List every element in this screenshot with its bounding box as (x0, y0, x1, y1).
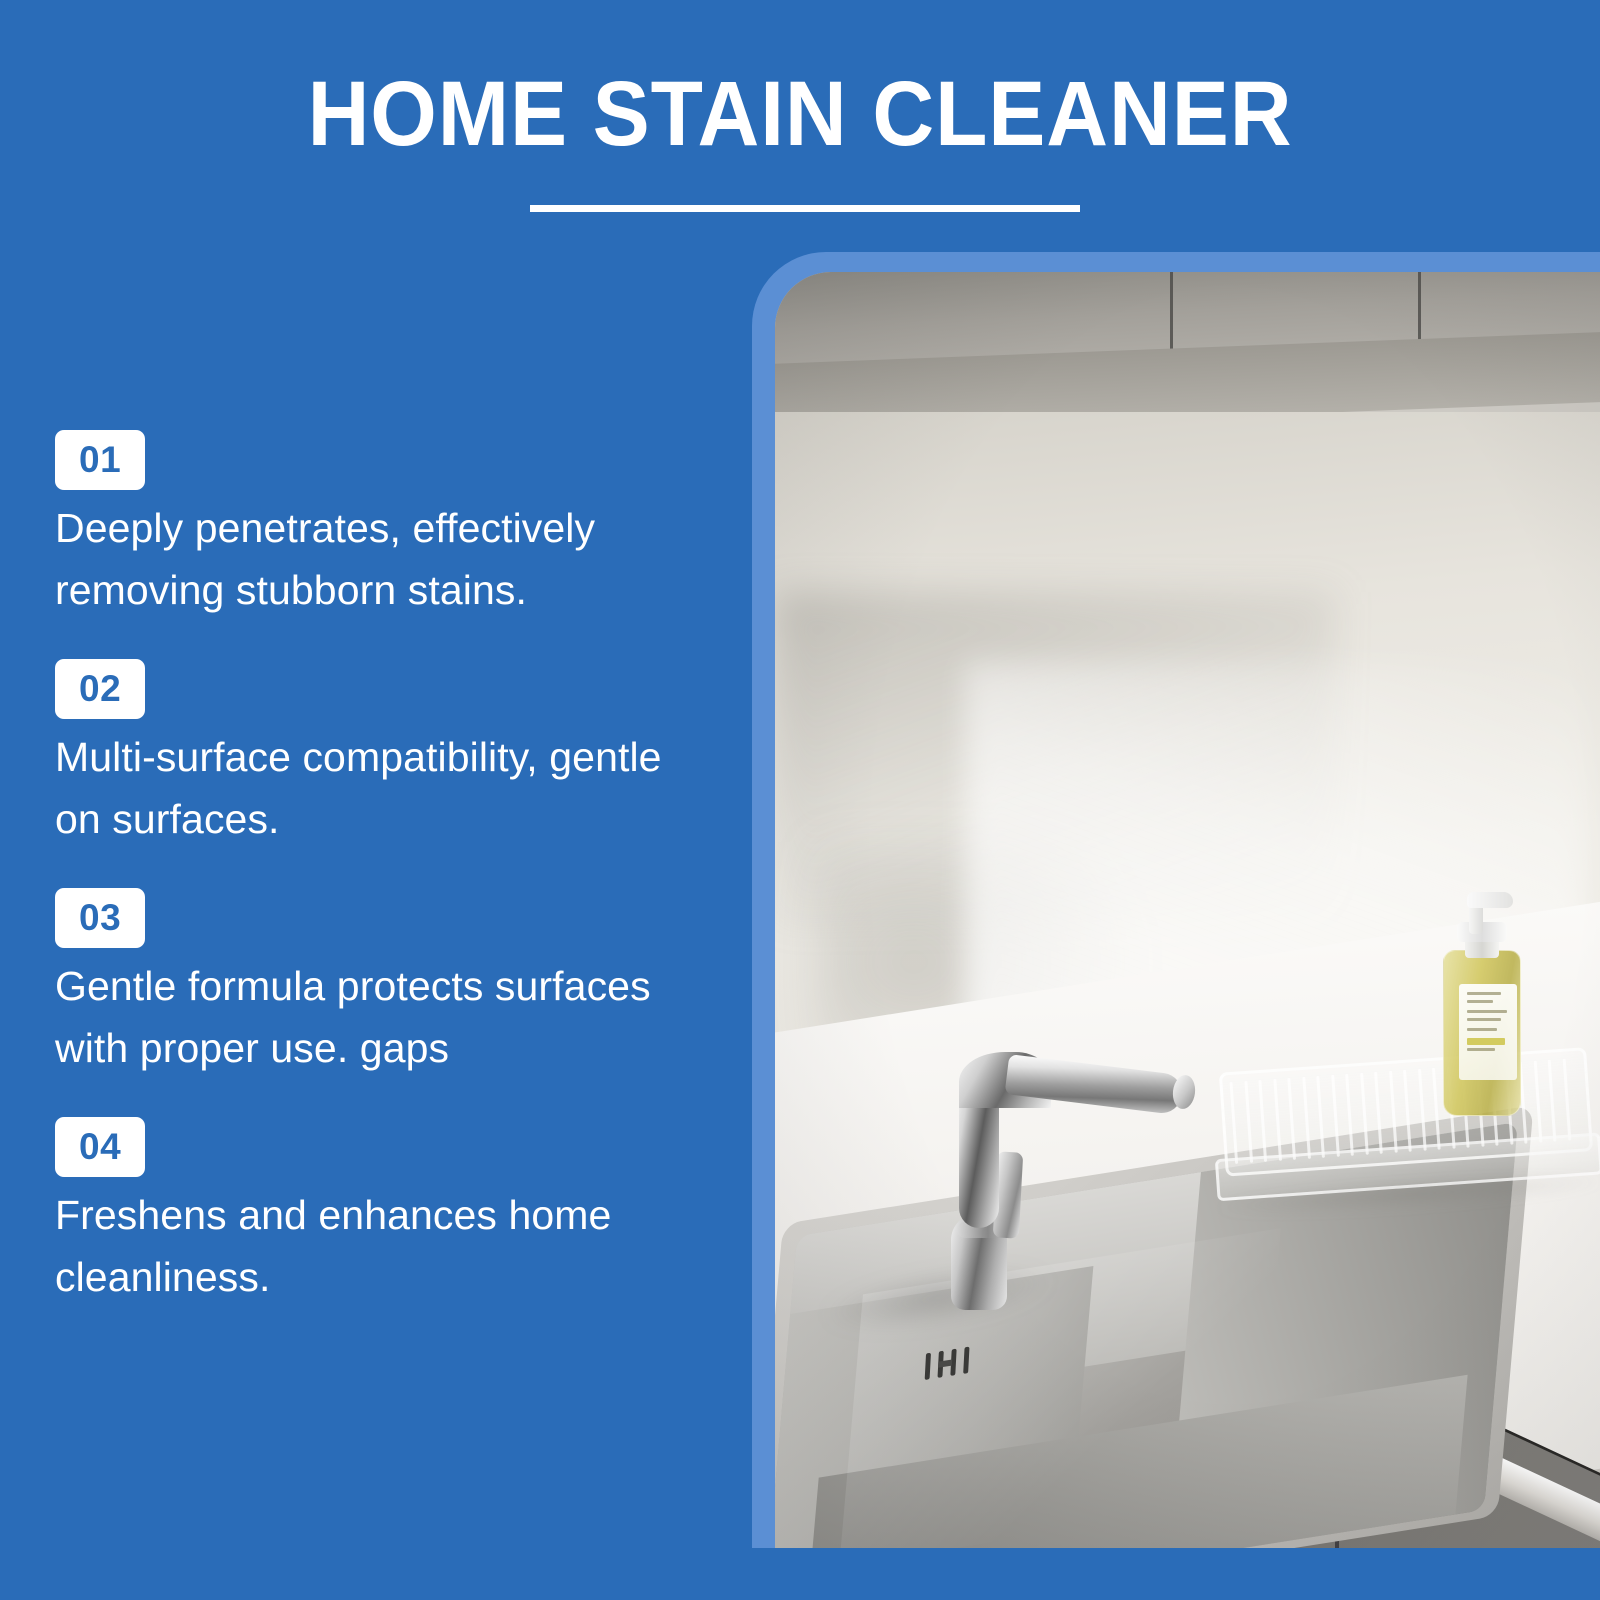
feature-number-badge: 04 (55, 1117, 145, 1177)
soap-pump-head (1467, 892, 1513, 908)
soap-dispenser (1427, 876, 1537, 1116)
feature-number-badge: 02 (55, 659, 145, 719)
list-item: 02 Multi-surface compatibility, gentle o… (55, 659, 695, 850)
feature-number-badge: 03 (55, 888, 145, 948)
kitchen-scene (775, 272, 1600, 1548)
chrome-faucet (943, 1032, 1203, 1312)
feature-text: Freshens and enhances home cleanliness. (55, 1185, 675, 1308)
feature-list: 01 Deeply penetrates, effectively removi… (55, 430, 695, 1308)
feature-text: Deeply penetrates, effectively removing … (55, 498, 675, 621)
list-item: 04 Freshens and enhances home cleanlines… (55, 1117, 695, 1308)
feature-text: Multi-surface compatibility, gentle on s… (55, 727, 675, 850)
photo-frame (752, 252, 1600, 1548)
kitchen-photo (775, 272, 1600, 1548)
dish-rack (1200, 1028, 1600, 1225)
feature-number-badge: 01 (55, 430, 145, 490)
list-item: 03 Gentle formula protects surfaces with… (55, 888, 695, 1079)
page-header: HOME STAIN CLEANER (0, 0, 1600, 240)
soap-bottle-label (1459, 984, 1517, 1080)
list-item: 01 Deeply penetrates, effectively removi… (55, 430, 695, 621)
page-title: HOME STAIN CLEANER (56, 68, 1544, 160)
title-divider (530, 205, 1080, 212)
feature-text: Gentle formula protects surfaces with pr… (55, 956, 675, 1079)
